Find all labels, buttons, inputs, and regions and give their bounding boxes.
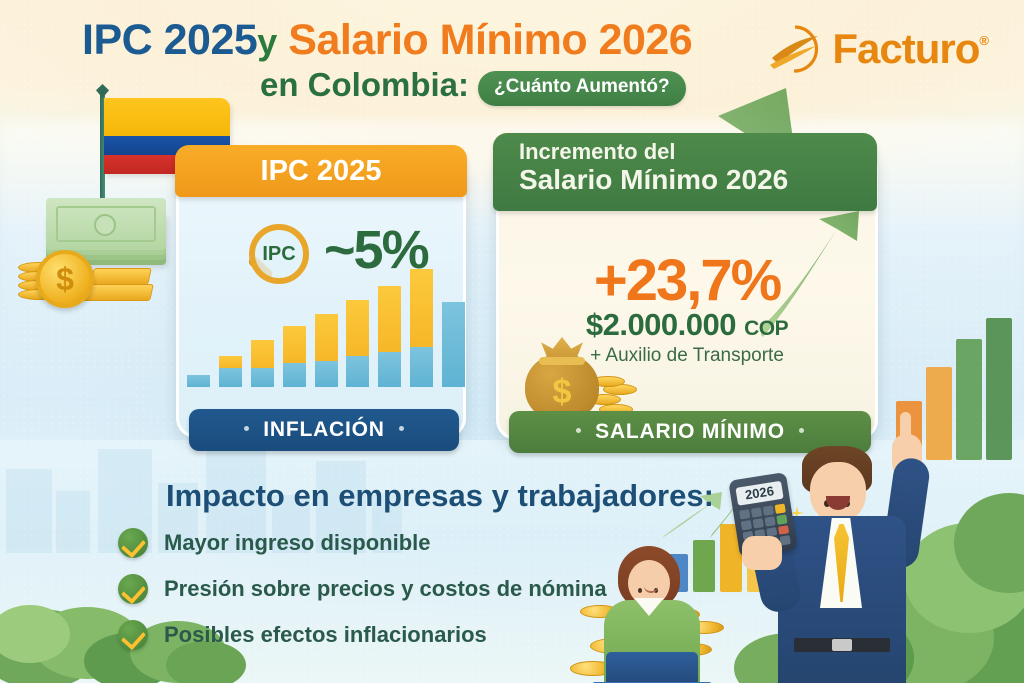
salary-card-header: Incremento del Salario Mínimo 2026 [493, 133, 877, 211]
woman-with-laptop-illustration [596, 546, 716, 683]
impact-item-label: Posibles efectos inflacionarios [164, 622, 487, 648]
woman-eye-left [638, 588, 642, 593]
ipc-bar [315, 314, 338, 387]
impact-item-label: Presión sobre precios y costos de nómina [164, 576, 607, 602]
ipc-bar-base [219, 368, 242, 387]
ipc-bar [219, 356, 242, 387]
salario-minimo-banner-label: SALARIO MÍNIMO [595, 420, 785, 443]
calculator-key [776, 514, 787, 524]
title-conjunction: y [257, 21, 277, 62]
ipc-card[interactable]: IPC 2025 IPC ~5% INFLACIÓN [176, 158, 466, 438]
gold-bar-icon-2 [90, 268, 152, 285]
ipc-bar-top [219, 356, 242, 368]
swoosh-logo-icon [768, 24, 822, 74]
banner-dot-left [244, 426, 249, 431]
ipc-card-header: IPC 2025 [175, 145, 467, 197]
ipc-bar [410, 269, 433, 387]
salary-card[interactable]: Incremento del Salario Mínimo 2026 +23,7… [496, 148, 878, 440]
title-ipc-text: IPC 2025 [82, 16, 257, 64]
brand-logo[interactable]: Facturo® [768, 24, 988, 74]
money-bag-tie [539, 357, 585, 365]
list-item: Presión sobre precios y costos de nómina [118, 570, 607, 608]
city-building [6, 469, 52, 553]
banner-dot-right [799, 428, 804, 433]
impact-item-label: Mayor ingreso disponible [164, 530, 430, 556]
laptop-screen [606, 652, 698, 683]
ipc-bar-chart [187, 267, 465, 387]
ipc-bar-top [251, 340, 274, 368]
ipc-bar-top [315, 314, 338, 361]
ipc-bar [283, 326, 306, 387]
ipc-bar-base [251, 368, 274, 387]
man-belt-buckle [832, 639, 852, 651]
ipc-bar-base [442, 302, 465, 387]
laptop-icon [588, 652, 716, 683]
ipc-bar-base [187, 375, 210, 387]
calculator-key [739, 509, 750, 519]
impact-section-title: Impacto en empresas y trabajadores: [166, 478, 714, 514]
salary-percent-value: +23,7% [499, 247, 875, 314]
calculator-key [751, 507, 762, 517]
inflacion-banner: INFLACIÓN [189, 409, 459, 451]
man-face [810, 462, 866, 522]
salary-currency: COP [744, 317, 788, 340]
check-circle-icon [118, 528, 148, 558]
calculator-key [763, 505, 774, 515]
ipc-bar-base [283, 363, 306, 387]
ipc-bar-base [378, 352, 401, 387]
list-item: Mayor ingreso disponible [118, 524, 607, 562]
money-stack-illustration: $ [18, 188, 183, 308]
banknote-stack-icon [46, 198, 166, 250]
registered-mark: ® [979, 33, 988, 48]
ipc-bar [442, 302, 465, 387]
salary-header-line2: Salario Mínimo 2026 [519, 164, 877, 196]
calculator-key [778, 525, 789, 535]
ipc-bar-base [346, 356, 369, 387]
ipc-bar-base [315, 361, 338, 387]
side-bar [986, 318, 1012, 460]
logo-text: Facturo® [832, 28, 988, 70]
check-circle-icon [118, 620, 148, 650]
ipc-bar-top [346, 300, 369, 357]
ipc-bar-top [410, 269, 433, 347]
inflacion-banner-label: INFLACIÓN [263, 418, 385, 441]
calculator-display: 2026 [735, 481, 783, 506]
calculator-key [741, 520, 752, 530]
man-hand [742, 536, 782, 570]
calculator-key [775, 504, 786, 514]
city-building [56, 491, 90, 553]
banner-dot-right [399, 426, 404, 431]
ipc-bar-base [410, 347, 433, 387]
ipc-bar [187, 375, 210, 387]
calculator-key [764, 516, 775, 526]
ipc-bar [378, 286, 401, 387]
businessman-illustration: 2026 [760, 440, 990, 683]
infographic-poster: IPC 2025y Salario Mínimo 2026 en Colombi… [0, 0, 1024, 683]
check-circle-icon [118, 574, 148, 604]
dollar-coin-icon: $ [36, 250, 94, 308]
ipc-bar [251, 340, 274, 387]
impact-bullet-list: Mayor ingreso disponible Presión sobre p… [118, 524, 607, 662]
title-salary-text: Salario Mínimo 2026 [288, 16, 692, 64]
banner-dot-left [576, 428, 581, 433]
salary-header-line1: Incremento del [519, 140, 877, 164]
list-item: Posibles efectos inflacionarios [118, 616, 607, 654]
title-country-text: en Colombia: [260, 66, 469, 103]
calculator-key [753, 518, 764, 528]
ipc-bar-top [378, 286, 401, 352]
ipc-bar-top [283, 326, 306, 364]
ipc-bar [346, 300, 369, 387]
